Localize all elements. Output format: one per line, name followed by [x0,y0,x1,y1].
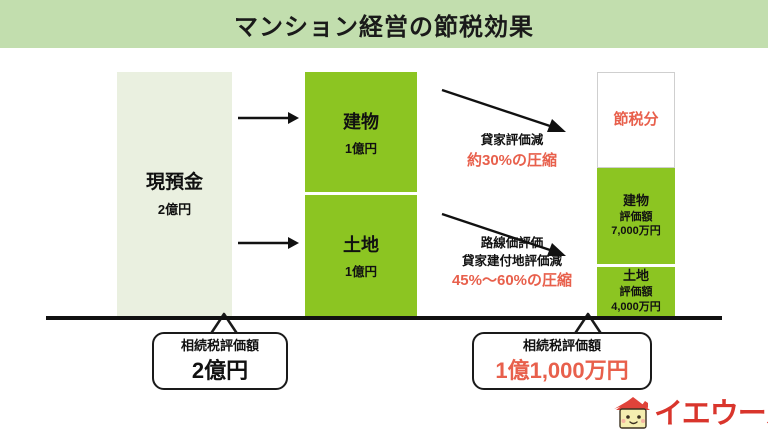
callout-right-value: 1億1,000万円 [495,357,628,385]
house-character-icon [612,394,654,430]
baseline [46,316,722,320]
property-segment-building: 建物 1億円 [305,72,417,192]
cash-bar-amount: 2億円 [158,199,191,218]
valuation-segment-building: 建物 評価額 7,000万円 [597,168,675,264]
annotation-land-reduction-rate: 45%〜60%の圧縮 [424,270,600,292]
callout-left-title: 相続税評価額 [181,338,259,355]
infographic-canvas: マンション経営の節税効果 現預金 2億円 建物 1億円 土地 1億円 貸家評 [0,0,768,432]
brand-logo-text: イエウール [654,390,768,432]
saving-label: 節税分 [613,110,658,130]
valuation-segment-land: 土地 評価額 4,000万円 [597,267,675,316]
property-stack: 建物 1億円 土地 1億円 [305,72,417,316]
callout-right: 相続税評価額 1億1,000万円 [472,316,652,390]
arrow-right-icon-bottom [238,233,300,253]
land-amount: 1億円 [345,261,377,280]
callout-left: 相続税評価額 2億円 [152,316,288,390]
property-segment-land: 土地 1億円 [305,195,417,316]
cash-bar: 現預金 2億円 [117,72,232,316]
brand-logo[interactable]: イエウール [612,388,764,432]
annotation-building-reduction-label: 貸家評価減 [432,132,592,150]
valuation-building-amount: 7,000万円 [611,224,661,239]
valuation-building-sub: 評価額 [620,210,653,225]
valuation-segment-saving: 節税分 [597,72,675,168]
callout-right-title: 相続税評価額 [523,338,601,355]
annotation-building-reduction: 貸家評価減 約30%の圧縮 [432,132,592,171]
annotation-land-reduction-label2: 貸家建付地評価減 [424,253,600,271]
valuation-land-sub: 評価額 [620,285,653,300]
cash-bar-label: 現預金 [146,170,203,196]
page-title: マンション経営の節税効果 [0,0,768,48]
annotation-building-reduction-rate: 約30%の圧縮 [432,150,592,172]
arrow-right-icon-top [238,108,300,128]
annotation-land-reduction: 路線価評価 貸家建付地評価減 45%〜60%の圧縮 [424,235,600,292]
building-label: 建物 [343,108,379,134]
valuation-stack: 節税分 建物 評価額 7,000万円 土地 評価額 4,000万円 [597,72,675,316]
building-amount: 1億円 [345,138,377,157]
callout-left-value: 2億円 [192,357,248,385]
arrow-diagonal-down-right-icon-top [440,88,570,136]
land-label: 土地 [343,231,379,257]
valuation-land-label: 土地 [623,268,649,285]
valuation-land-amount: 4,000万円 [611,300,661,315]
annotation-land-reduction-label1: 路線価評価 [424,235,600,253]
valuation-building-label: 建物 [623,193,649,210]
